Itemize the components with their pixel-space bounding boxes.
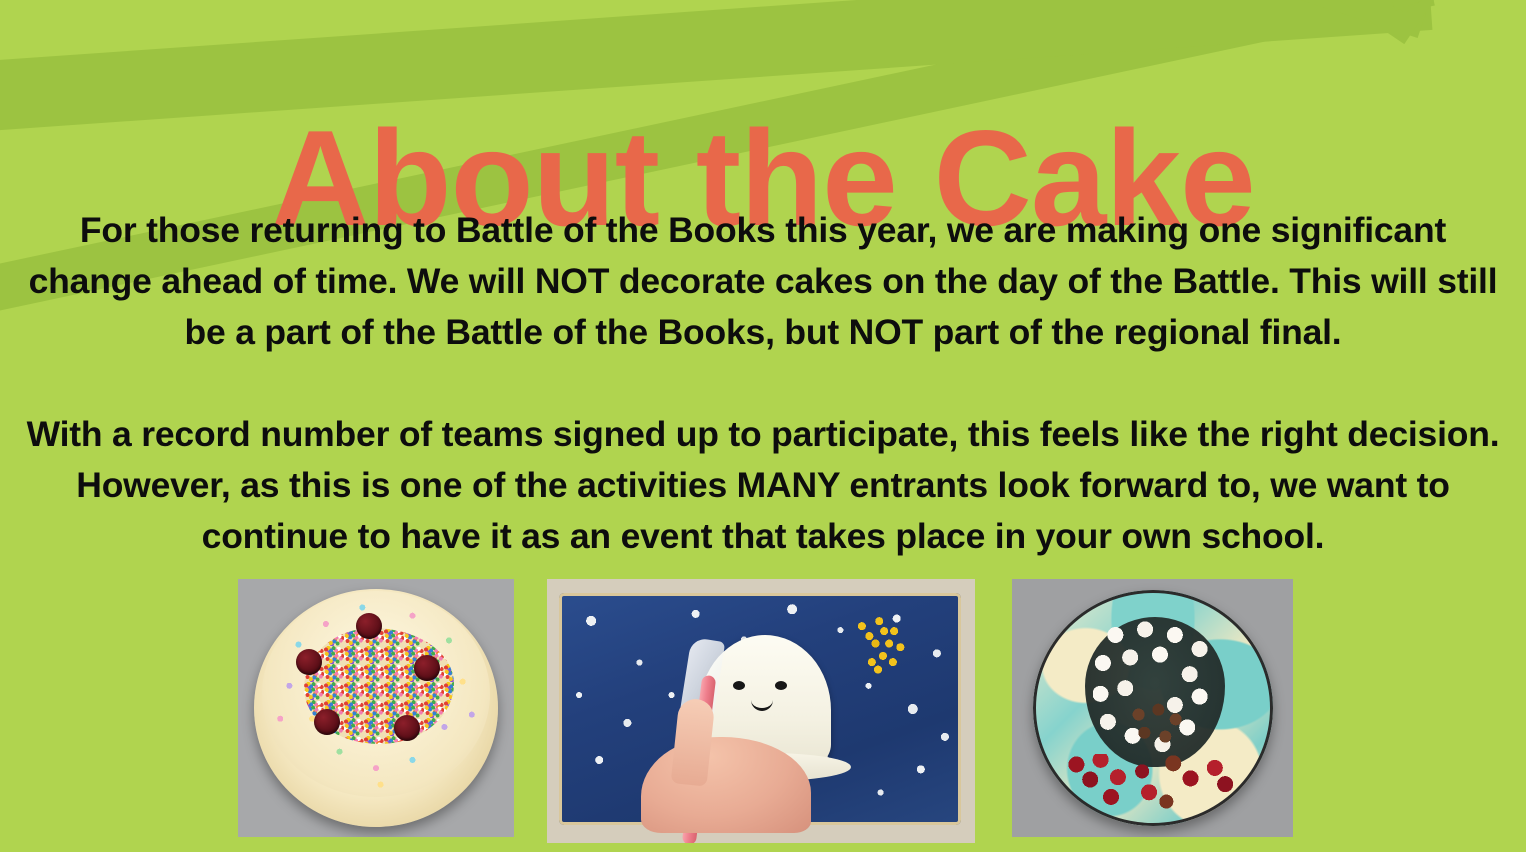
cherry-3 <box>414 655 440 681</box>
cherry-2 <box>296 649 322 675</box>
photo-strip <box>0 579 1526 852</box>
candy-crescent-moon <box>847 615 909 677</box>
cake-top-surface <box>262 591 490 797</box>
teal-cream-frosting <box>1033 590 1273 826</box>
cherry-5 <box>394 715 420 741</box>
paragraph-two: With a record number of teams signed up … <box>14 409 1512 562</box>
cocoa-puff-snout <box>1127 703 1185 751</box>
ghost-left-eye <box>733 681 745 690</box>
body-text-container: For those returning to Battle of the Boo… <box>14 205 1512 562</box>
cherry-1 <box>356 613 382 639</box>
marshmallow-face-cake-photo <box>1012 579 1293 837</box>
ghost-smile <box>751 695 773 711</box>
cake-body <box>254 589 498 827</box>
slide: About the Cake For those returning to Ba… <box>0 0 1526 852</box>
paragraph-one: For those returning to Battle of the Boo… <box>14 205 1512 358</box>
ghost-night-sky-cake-photo <box>547 579 975 843</box>
cherry-4 <box>314 709 340 735</box>
blue-icing-slab <box>559 593 961 825</box>
red-berry-decorations <box>1066 754 1239 812</box>
sprinkle-cake-photo <box>238 579 514 837</box>
ghost-right-eye <box>775 681 787 690</box>
